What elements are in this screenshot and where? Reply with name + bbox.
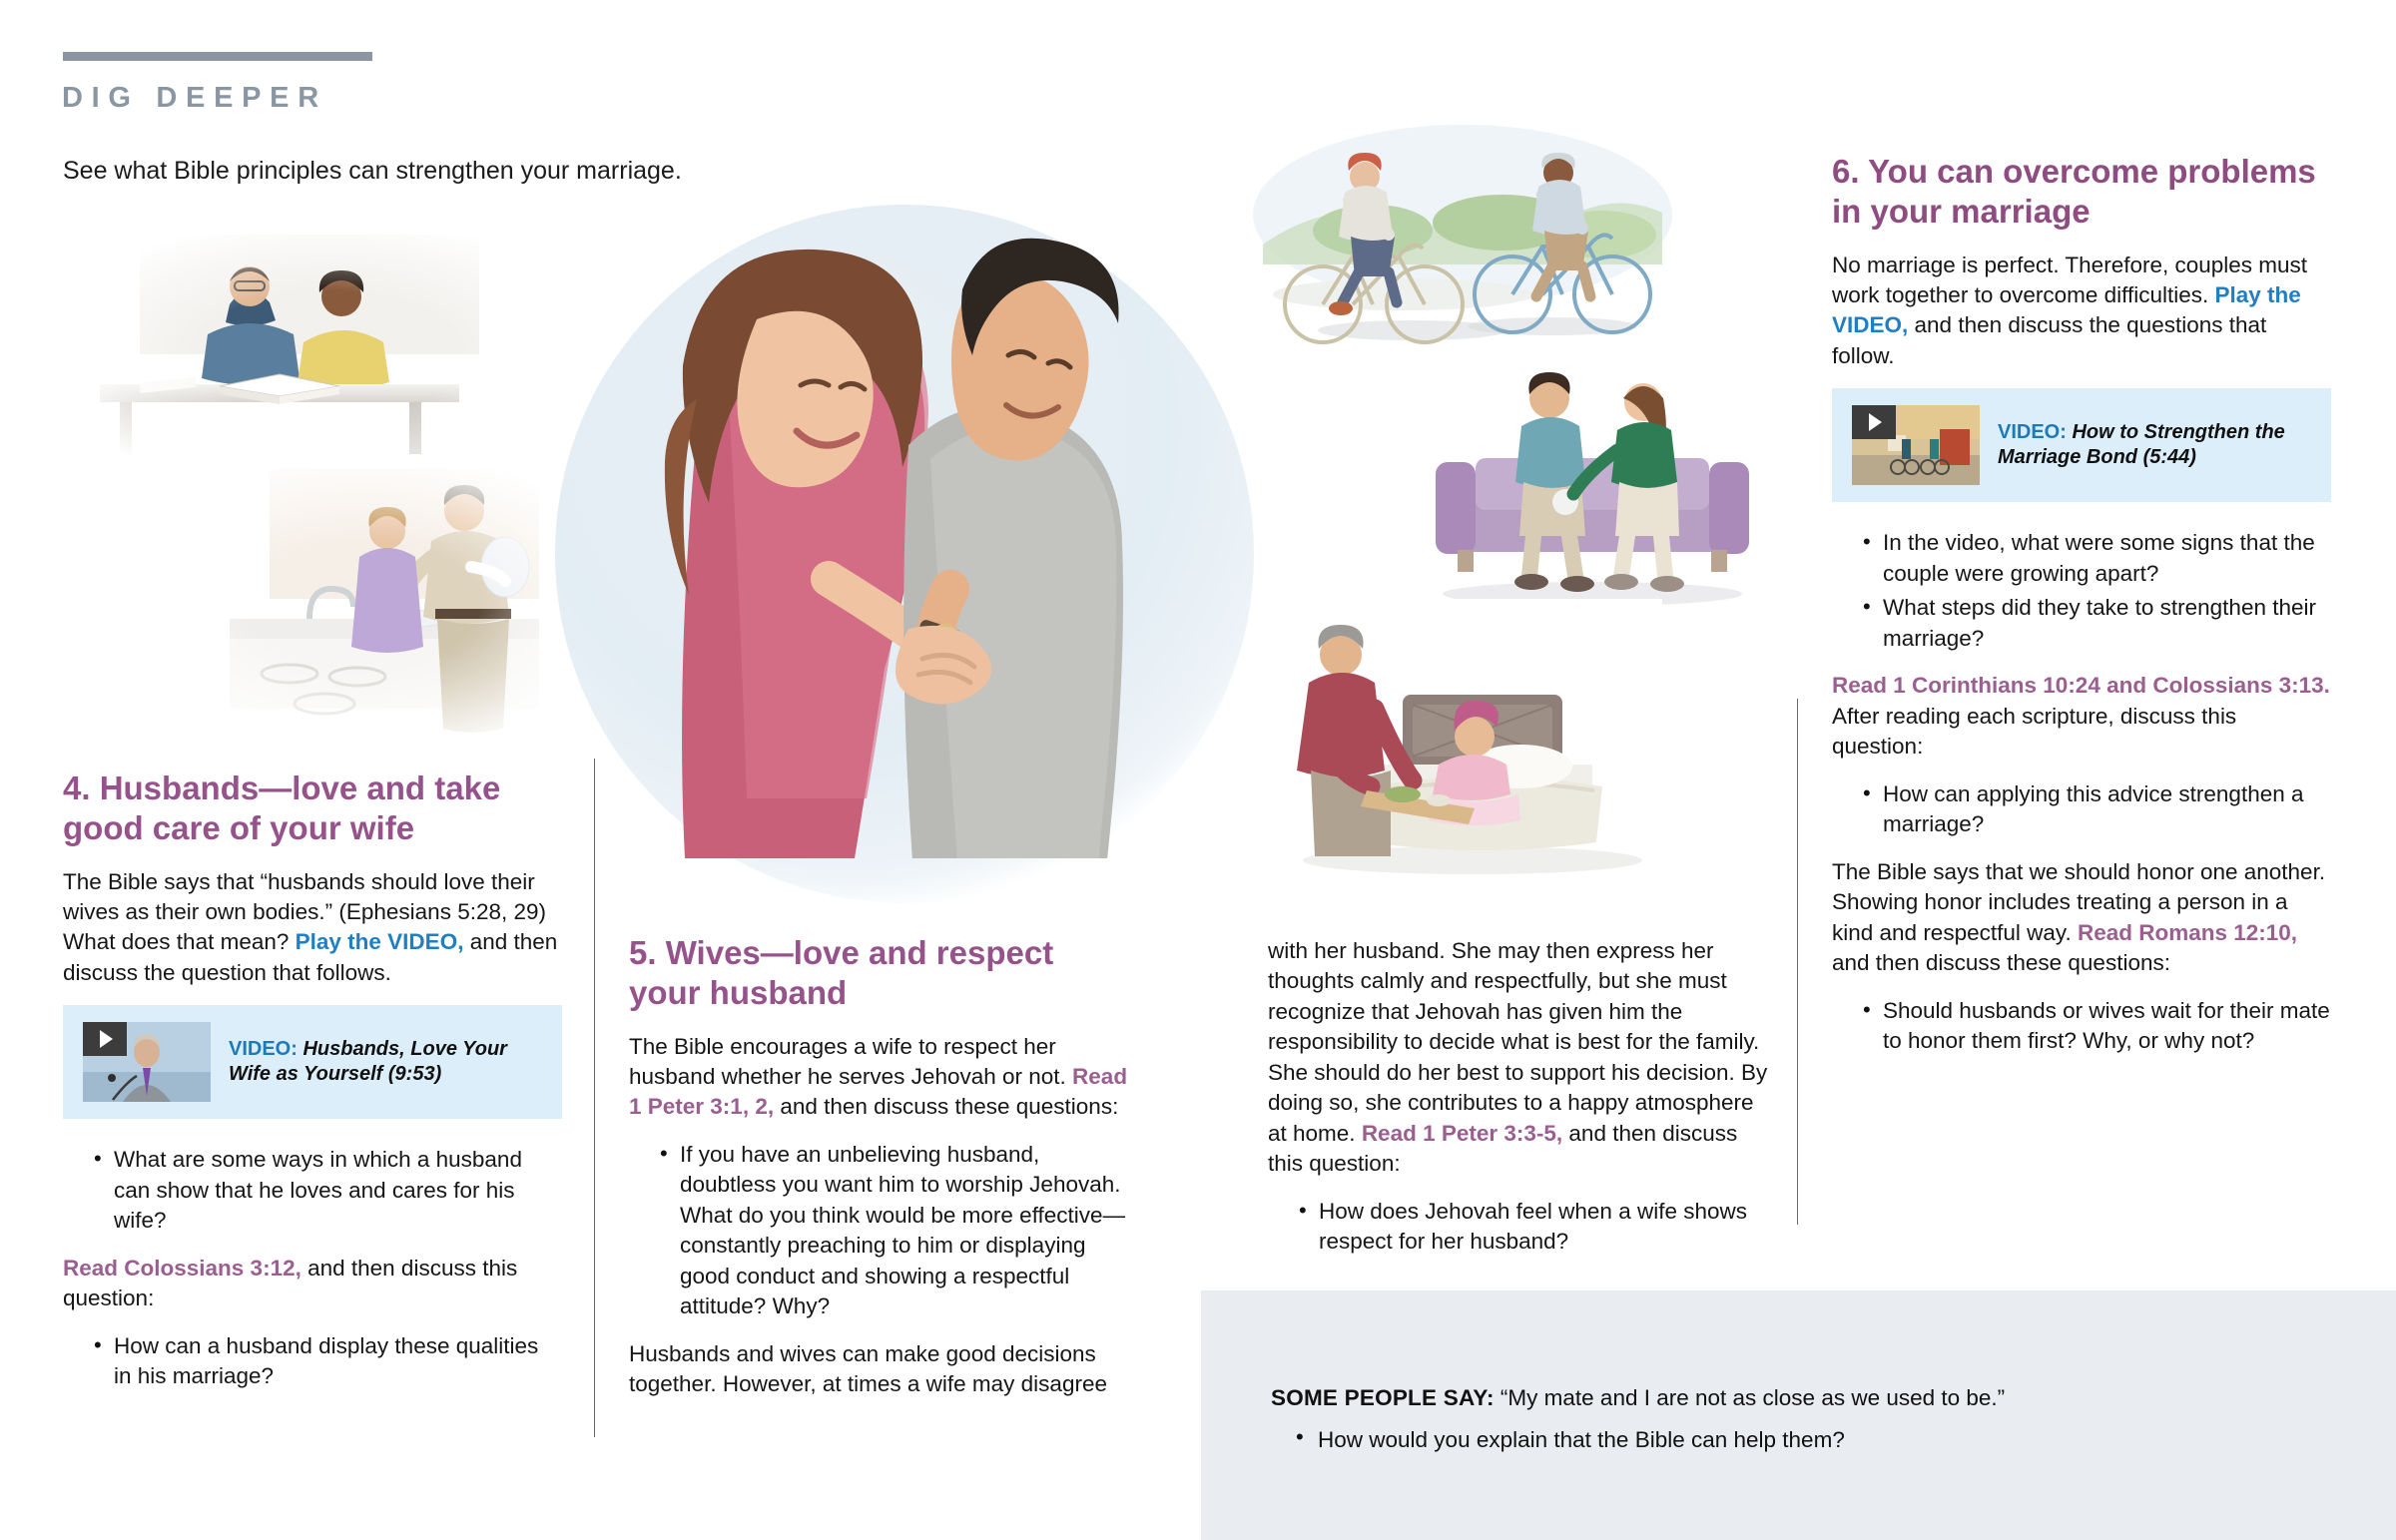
section-6-heading: 6. You can overcome problems in your mar… bbox=[1832, 152, 2331, 233]
illustration-couple-talking-on-sofa bbox=[1418, 354, 1767, 614]
scripture-ref-1-corinthians-10-24-colossians-3-13[interactable]: Read 1 Corinthians 10:24 and Colossians … bbox=[1832, 673, 2330, 698]
list-item: If you have an unbelieving husband, doub… bbox=[660, 1140, 1128, 1322]
section-5-p1-part-a: The Bible encourages a wife to respect h… bbox=[629, 1034, 1072, 1089]
section-6-question-list-2: How can applying this advice strengthen … bbox=[1832, 779, 2331, 840]
scripture-ref-1-peter-3-3-5[interactable]: Read 1 Peter 3:3-5, bbox=[1362, 1121, 1562, 1146]
section-4-heading: 4. Husbands—love and take good care of y… bbox=[63, 769, 562, 849]
list-item: What steps did they take to strengthen t… bbox=[1863, 593, 2331, 654]
some-people-say-label: SOME PEOPLE SAY: bbox=[1271, 1385, 1495, 1410]
section-5: 5. Wives—love and respect your husband T… bbox=[629, 933, 1128, 1417]
list-item: How does Jehovah feel when a wife shows … bbox=[1299, 1197, 1777, 1258]
list-item: Should husbands or wives wait for their … bbox=[1863, 996, 2331, 1057]
play-icon[interactable] bbox=[83, 1022, 127, 1056]
video-card-husbands-love-your-wife[interactable]: VIDEO: Husbands, Love Your Wife as Yours… bbox=[63, 1005, 562, 1119]
video-duration-4: (9:53) bbox=[388, 1063, 441, 1085]
page-kicker: DIG DEEPER bbox=[62, 82, 327, 115]
section-6-p2-part-b: After reading each scripture, discuss th… bbox=[1832, 704, 2236, 759]
section-4: 4. Husbands—love and take good care of y… bbox=[63, 769, 562, 1409]
some-people-say-question-list: How would you explain that the Bible can… bbox=[1296, 1425, 1845, 1454]
video-thumbnail-speaker-at-podium[interactable] bbox=[83, 1022, 211, 1102]
section-6-paragraph-1: No marriage is perfect. Therefore, coupl… bbox=[1832, 251, 2331, 372]
list-item: What are some ways in which a husband ca… bbox=[94, 1145, 562, 1236]
illustration-man-bringing-tray-to-sick-wife-in-bed bbox=[1263, 599, 1662, 878]
section-6-p3-part-b: and then discuss these questions: bbox=[1832, 950, 2170, 975]
section-6-paragraph-3: The Bible says that we should honor one … bbox=[1832, 857, 2331, 979]
section-5-paragraph-1: The Bible encourages a wife to respect h… bbox=[629, 1032, 1128, 1123]
scripture-ref-colossians-3-12[interactable]: Read Colossians 3:12, bbox=[63, 1256, 301, 1281]
some-people-say-panel: SOME PEOPLE SAY: “My mate and I are not … bbox=[1201, 1290, 2396, 1540]
list-item: In the video, what were some signs that … bbox=[1863, 528, 2331, 589]
list-item: How can applying this advice strengthen … bbox=[1863, 779, 2331, 840]
section-5-question-list-2: How does Jehovah feel when a wife shows … bbox=[1268, 1197, 1777, 1258]
illustration-couple-holding-hands-smiling bbox=[579, 160, 1278, 858]
section-6-question-list-3: Should husbands or wives wait for their … bbox=[1832, 996, 2331, 1057]
section-6-paragraph-2: Read 1 Corinthians 10:24 and Colossians … bbox=[1832, 671, 2331, 762]
header-rule bbox=[63, 52, 372, 61]
some-people-say-heading: SOME PEOPLE SAY: “My mate and I are not … bbox=[1271, 1383, 2005, 1412]
video-label-6: VIDEO: bbox=[1998, 421, 2067, 443]
section-6-question-list-1: In the video, what were some signs that … bbox=[1832, 528, 2331, 654]
section-4-paragraph-2: Read Colossians 3:12, and then discuss t… bbox=[63, 1254, 562, 1314]
section-5-question-list-1: If you have an unbelieving husband, doub… bbox=[629, 1140, 1128, 1322]
section-5-p1-part-b: and then discuss these questions: bbox=[774, 1094, 1118, 1119]
video-duration-6: (5:44) bbox=[2143, 446, 2196, 468]
divider-col3-col4 bbox=[1797, 699, 1798, 1225]
section-4-question-list-2: How can a husband display these qualitie… bbox=[63, 1331, 562, 1392]
section-4-paragraph-1: The Bible says that “husbands should lov… bbox=[63, 867, 562, 989]
section-6: 6. You can overcome problems in your mar… bbox=[1832, 152, 2331, 1074]
scripture-ref-romans-12-10[interactable]: Read Romans 12:10, bbox=[2078, 920, 2297, 945]
illustration-couple-riding-bicycles-outdoors bbox=[1253, 95, 1672, 374]
video-label-4: VIDEO: bbox=[229, 1038, 298, 1060]
section-5-continued-paragraph: with her husband. She may then express h… bbox=[1268, 936, 1777, 1180]
section-5-cont-part-a: with her husband. She may then express h… bbox=[1268, 938, 1767, 1146]
video-card-how-to-strengthen-the-marriage-bond[interactable]: VIDEO: How to Strengthen the Marriage Bo… bbox=[1832, 388, 2331, 502]
video-thumbnail-couple-riding-bicycles[interactable] bbox=[1852, 405, 1980, 485]
illustration-man-washing-dishes-with-wife bbox=[120, 469, 539, 739]
play-icon[interactable] bbox=[1852, 405, 1896, 439]
video-caption-6: VIDEO: How to Strengthen the Marriage Bo… bbox=[1998, 420, 2311, 471]
section-5-heading: 5. Wives—love and respect your husband bbox=[629, 933, 1128, 1014]
list-item: How can a husband display these qualitie… bbox=[94, 1331, 562, 1392]
play-the-video-link-4[interactable]: Play the VIDEO, bbox=[296, 929, 464, 954]
illustration-couple-studying-bible-at-table bbox=[80, 235, 479, 454]
list-item: How would you explain that the Bible can… bbox=[1296, 1425, 1845, 1454]
section-4-question-list-1: What are some ways in which a husband ca… bbox=[63, 1145, 562, 1236]
page-root: DIG DEEPER See what Bible principles can… bbox=[0, 0, 2396, 1540]
video-caption-4: VIDEO: Husbands, Love Your Wife as Yours… bbox=[229, 1037, 542, 1088]
some-people-say-quote: “My mate and I are not as close as we us… bbox=[1500, 1385, 2005, 1410]
section-5-paragraph-2: Husbands and wives can make good decisio… bbox=[629, 1339, 1128, 1400]
section-5-continued: with her husband. She may then express h… bbox=[1268, 936, 1777, 1275]
divider-col1-col2 bbox=[594, 759, 595, 1437]
